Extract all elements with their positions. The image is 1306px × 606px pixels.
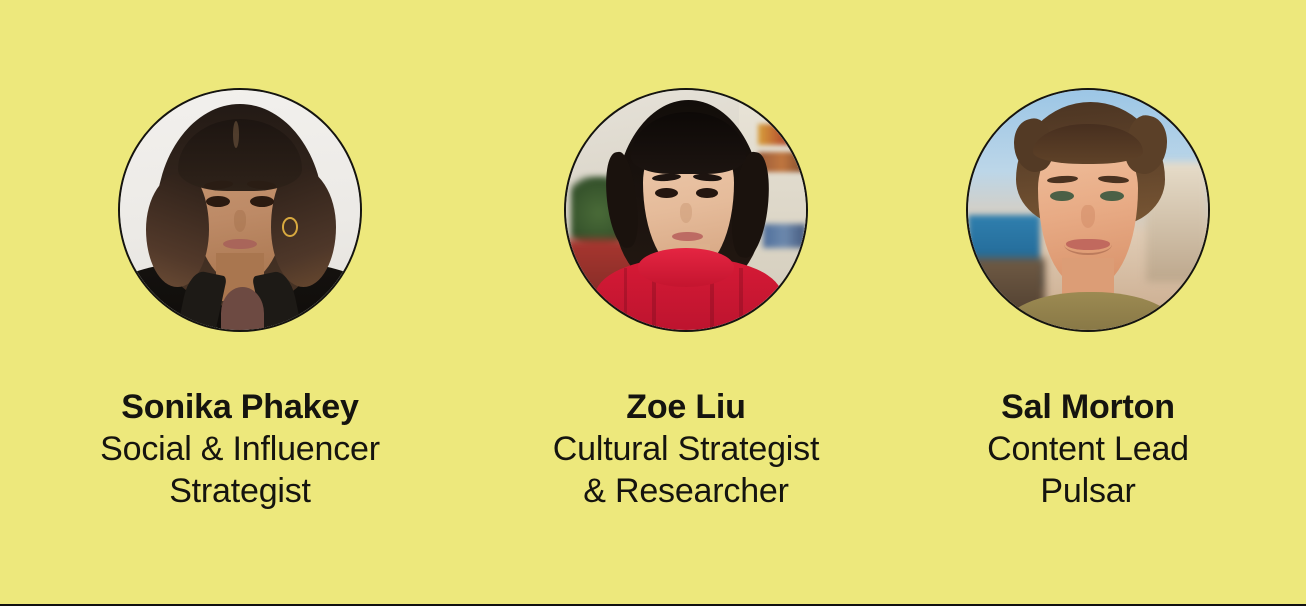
- team-member-card[interactable]: Zoe Liu Cultural Strategist & Researcher: [496, 90, 876, 512]
- avatar-photo-sonika-phakey: [120, 90, 360, 330]
- avatar[interactable]: [120, 90, 360, 330]
- member-name: Sonika Phakey: [50, 386, 430, 428]
- team-member-card[interactable]: Sonika Phakey Social & Influencer Strate…: [50, 90, 430, 512]
- avatar[interactable]: [566, 90, 806, 330]
- member-name: Sal Morton: [898, 386, 1278, 428]
- member-role-line: Pulsar: [898, 470, 1278, 512]
- member-caption: Sonika Phakey Social & Influencer Strate…: [50, 386, 430, 512]
- member-role-line: Cultural Strategist: [496, 428, 876, 470]
- member-caption: Sal Morton Content Lead Pulsar: [898, 386, 1278, 512]
- member-role-line: Strategist: [50, 470, 430, 512]
- team-section: Sonika Phakey Social & Influencer Strate…: [0, 0, 1306, 606]
- member-role-line: Content Lead: [898, 428, 1278, 470]
- earring-icon: [282, 217, 298, 237]
- avatar-photo-sal-morton: [968, 90, 1208, 330]
- member-name: Zoe Liu: [496, 386, 876, 428]
- member-role-line: & Researcher: [496, 470, 876, 512]
- avatar-photo-zoe-liu: [566, 90, 806, 330]
- team-member-card[interactable]: Sal Morton Content Lead Pulsar: [898, 90, 1278, 512]
- team-member-row: Sonika Phakey Social & Influencer Strate…: [0, 0, 1306, 604]
- avatar[interactable]: [968, 90, 1208, 330]
- member-caption: Zoe Liu Cultural Strategist & Researcher: [496, 386, 876, 512]
- member-role-line: Social & Influencer: [50, 428, 430, 470]
